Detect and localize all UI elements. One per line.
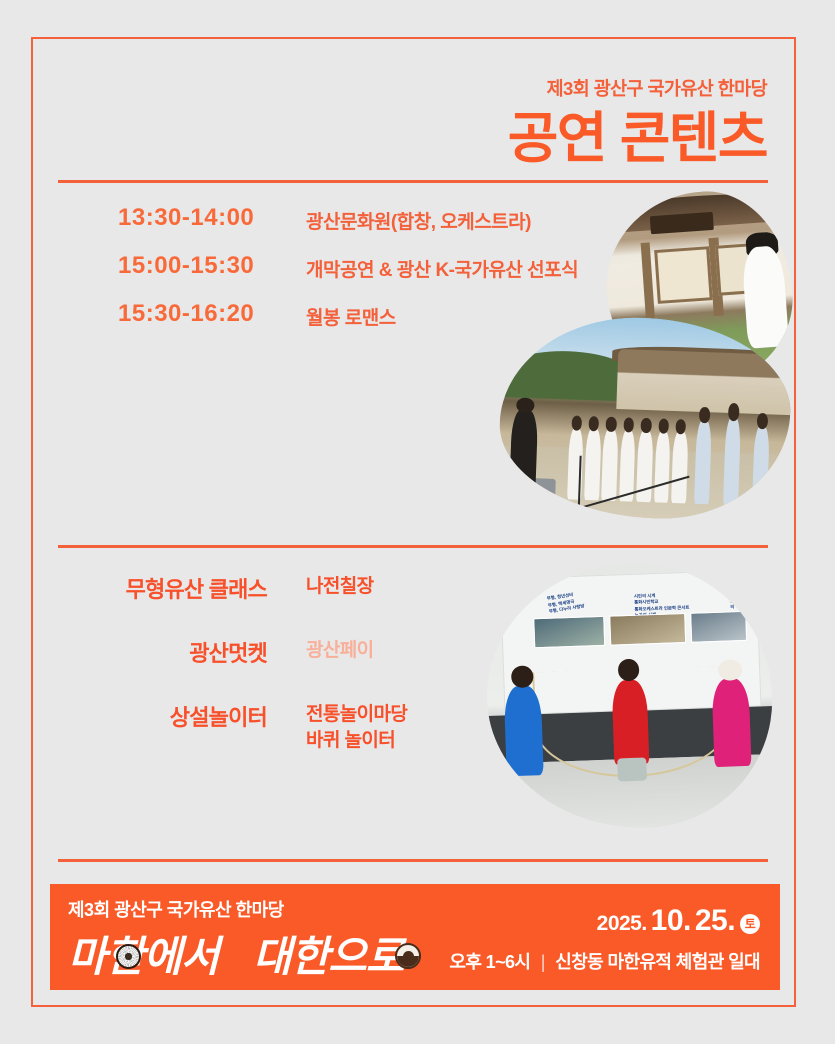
banner-datetime: 2025. 10. 25. 토 오후 1~6시 | 신창동 마한유적 체험관 일…: [449, 906, 760, 974]
participant-figure: [504, 685, 544, 776]
schedule-time: 13:30-14:00: [118, 204, 254, 232]
event-time: 오후 1~6시: [449, 952, 530, 972]
backdrop-text: 무형, 청년선비무형, 백세명곡무형, 다누리 사랑방: [546, 590, 585, 615]
event-venue: 신창동 마한유적 체험관 일대: [555, 952, 760, 972]
poster-header: 제3회 광산구 국가유산 한마당 공연 콘텐츠: [508, 78, 767, 171]
choir-singer: [654, 430, 671, 502]
schedule-program: 월봉 로맨스: [306, 303, 396, 330]
schedule-time: 15:00-15:30: [118, 252, 254, 280]
program-value-line: 전통놀이마당: [306, 702, 407, 728]
choir-singer: [752, 426, 769, 506]
choir-performance-photo: [497, 313, 794, 523]
hanok-building: [616, 349, 793, 415]
banner-logo-word-1: 마한에서: [68, 928, 219, 986]
backdrop-photo: [609, 613, 686, 646]
choir-singer: [601, 429, 618, 501]
program-value: 전통놀이마당 바퀴 놀이터: [306, 702, 407, 753]
event-month: 10.: [651, 904, 691, 937]
program-value-line: 바퀴 놀이터: [306, 728, 407, 754]
header-kicker: 제3회 광산구 국가유산 한마당: [508, 78, 767, 100]
program-value: 나전칠장: [306, 574, 374, 600]
program-value: 광산페이: [306, 638, 374, 664]
event-day: 25.: [695, 904, 735, 937]
banner-logo-word-2: 대한으로: [253, 928, 404, 986]
schedule-time: 15:30-16:20: [118, 300, 254, 328]
choir-singer: [723, 417, 741, 505]
hanok-plaque: [650, 212, 714, 234]
schedule-program: 광산문화원(합창, 오케스트라): [306, 207, 531, 234]
choir-singer: [694, 420, 711, 504]
participant-figure: [712, 678, 752, 767]
event-weekday-badge: 토: [740, 914, 760, 934]
program-label: 상설놀이터: [0, 700, 267, 732]
page-title: 공연 콘텐츠: [508, 106, 767, 171]
program-value-line: 광산페이: [306, 640, 374, 661]
separator: |: [541, 952, 545, 973]
backdrop-photo: [533, 616, 605, 648]
divider-bottom: [58, 859, 768, 862]
poster-root: 제3회 광산구 국가유산 한마당 공연 콘텐츠 13:30-14:00 광산문화…: [0, 0, 835, 1044]
program-label: 광산멋켓: [0, 636, 267, 668]
program-value-line: 나전칠장: [306, 576, 374, 597]
taegeuk-icon: [395, 943, 421, 969]
divider-middle: [58, 545, 768, 548]
banner-kicker: 제3회 광산구 국가유산 한마당: [68, 896, 404, 922]
banner-logo: 마한에서 대한으로: [68, 928, 404, 986]
schedule-program: 개막공연 & 광산 K-국가유산 선포식: [306, 255, 578, 282]
participant-figure: [612, 679, 649, 765]
backdrop-photo: [691, 611, 748, 643]
choir-singer: [671, 431, 688, 503]
program-label: 무형유산 클래스: [0, 572, 267, 604]
hanok-door: [654, 246, 713, 304]
event-banner: 제3회 광산구 국가유산 한마당 마한에서 대한으로 2025. 10. 25.…: [50, 884, 780, 990]
event-year: 2025.: [597, 912, 647, 935]
hanok-post: [641, 242, 656, 320]
jump-rope-activity-photo: 무형, 청년선비무형, 백세명곡무형, 다누리 사랑방 시민의 시계통화시민학교…: [482, 558, 776, 833]
choir-singer: [584, 428, 601, 500]
conductor-figure: [509, 409, 538, 502]
event-time-venue: 오후 1~6시 | 신창동 마한유적 체험관 일대: [449, 948, 760, 974]
banner-brand: 제3회 광산구 국가유산 한마당 마한에서 대한으로: [68, 896, 404, 986]
divider-top: [58, 180, 768, 183]
bronze-mirror-wheel-icon: [116, 944, 141, 969]
event-date: 2025. 10. 25. 토: [449, 906, 760, 937]
